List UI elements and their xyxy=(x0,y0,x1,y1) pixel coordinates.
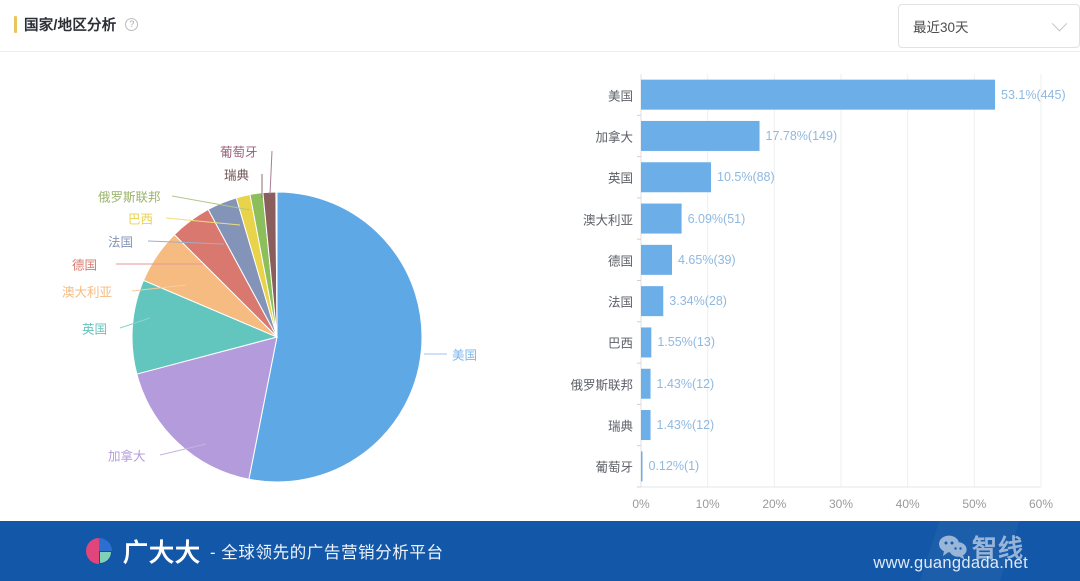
bar-category-label: 瑞典 xyxy=(547,416,633,435)
bar-category-label: 美国 xyxy=(547,85,633,104)
bar-value-label: 10.5%(88) xyxy=(717,170,775,184)
pie-label-0: 美国 xyxy=(452,345,477,364)
x-axis-tick: 0% xyxy=(632,497,649,511)
panel-header: 国家/地区分析 ? 最近30天 xyxy=(0,0,1080,52)
page-root: 国家/地区分析 ? 最近30天 美国加拿大英国澳大利亚德国法国巴西俄罗斯联邦瑞典… xyxy=(0,0,1080,581)
pie-label-9: 葡萄牙 xyxy=(220,142,258,161)
chevron-down-icon xyxy=(1052,15,1068,31)
bar-chart-panel: 美国加拿大英国澳大利亚德国法国巴西俄罗斯联邦瑞典葡萄牙 53.1%(445)17… xyxy=(560,52,1080,516)
accent-bar xyxy=(14,16,17,33)
pie-label-6: 巴西 xyxy=(128,209,153,228)
bar-category-label: 法国 xyxy=(547,292,633,311)
bar-category-label: 德国 xyxy=(547,250,633,269)
bar-value-label: 1.55%(13) xyxy=(657,335,715,349)
brand-name: 广大大 xyxy=(123,533,201,569)
bar-value-label: 1.43%(12) xyxy=(657,377,715,391)
bar-value-label: 3.34%(28) xyxy=(669,294,727,308)
x-axis-tick: 30% xyxy=(829,497,853,511)
bar-category-label: 俄罗斯联邦 xyxy=(547,374,633,393)
date-range-value: 最近30天 xyxy=(913,16,1054,36)
brand-group: 广大大 - 全球领先的广告营销分析平台 xyxy=(84,533,444,569)
pie-label-7: 俄罗斯联邦 xyxy=(98,187,161,206)
bar-value-label: 6.09%(51) xyxy=(688,212,746,226)
date-range-select[interactable]: 最近30天 xyxy=(898,4,1080,48)
bar-value-label: 1.43%(12) xyxy=(657,418,715,432)
pie-label-8: 瑞典 xyxy=(224,165,249,184)
bar-category-label: 英国 xyxy=(547,168,633,187)
bar-value-label: 4.65%(39) xyxy=(678,253,736,267)
bar-category-label: 葡萄牙 xyxy=(547,457,633,476)
x-axis-tick: 40% xyxy=(896,497,920,511)
question-circle-icon[interactable]: ? xyxy=(125,18,138,31)
panel-title-group: 国家/地区分析 ? xyxy=(14,14,138,35)
bar-category-label: 加拿大 xyxy=(547,126,633,145)
x-axis-tick: 60% xyxy=(1029,497,1053,511)
x-axis-tick: 20% xyxy=(762,497,786,511)
x-axis-tick: 50% xyxy=(962,497,986,511)
page-title: 国家/地区分析 xyxy=(24,14,116,35)
pie-chart-panel: 美国加拿大英国澳大利亚德国法国巴西俄罗斯联邦瑞典葡萄牙 xyxy=(0,52,560,516)
pie-label-3: 澳大利亚 xyxy=(62,282,112,301)
site-url: www.guangdada.net xyxy=(873,554,1028,573)
charts-container: 美国加拿大英国澳大利亚德国法国巴西俄罗斯联邦瑞典葡萄牙 美国加拿大英国澳大利亚德… xyxy=(0,52,1080,516)
brand-tagline: - 全球领先的广告营销分析平台 xyxy=(210,539,444,563)
bar-chart-svg[interactable] xyxy=(560,52,1080,516)
pie-label-5: 法国 xyxy=(108,232,133,251)
x-axis-tick: 10% xyxy=(696,497,720,511)
footer-banner: 广大大 - 全球领先的广告营销分析平台 智线 www.guangdada.net xyxy=(0,521,1080,581)
pie-logo-icon xyxy=(84,536,114,566)
bar-value-label: 17.78%(149) xyxy=(766,129,838,143)
bar-category-label: 巴西 xyxy=(547,333,633,352)
pie-slices[interactable] xyxy=(132,192,422,482)
bar-value-label: 53.1%(445) xyxy=(1001,88,1066,102)
bar-category-label: 澳大利亚 xyxy=(547,209,633,228)
pie-label-1: 加拿大 xyxy=(108,446,146,465)
pie-label-2: 英国 xyxy=(82,319,107,338)
pie-label-4: 德国 xyxy=(72,255,97,274)
bar-value-label: 0.12%(1) xyxy=(649,459,700,473)
